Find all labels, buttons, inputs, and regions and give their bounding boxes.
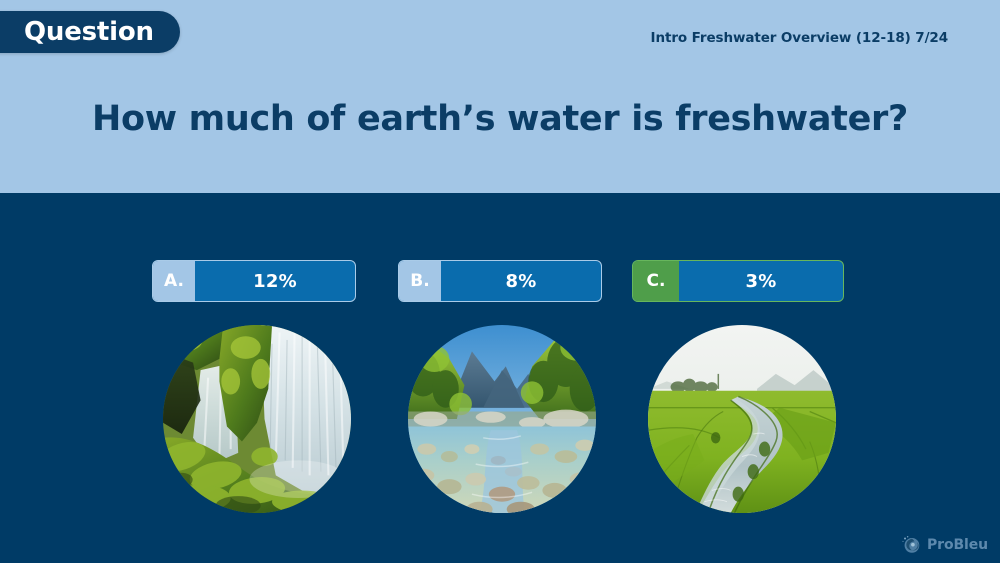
question-slide: Question Intro Freshwater Overview (12-1… xyxy=(0,0,1000,563)
mossy-waterfall-photo xyxy=(163,325,351,513)
answer-option-b[interactable]: B. 8% xyxy=(398,260,602,302)
brand-logo: ProBleu xyxy=(901,534,988,555)
answer-options-row: A. 12% B. 8% C. 3% xyxy=(0,260,1000,304)
question-badge-label: Question xyxy=(24,19,154,45)
brand-name: ProBleu xyxy=(927,537,988,553)
question-badge: Question xyxy=(0,11,180,53)
water-swirl-globe-icon xyxy=(901,534,922,555)
answer-option-c-value: 3% xyxy=(679,261,843,301)
answer-option-a[interactable]: A. 12% xyxy=(152,260,356,302)
header-band: Question Intro Freshwater Overview (12-1… xyxy=(0,0,1000,193)
answer-option-a-letter: A. xyxy=(153,261,195,301)
answer-option-c-letter: C. xyxy=(633,261,679,301)
clear-mountain-river-photo xyxy=(408,325,596,513)
answer-option-a-value: 12% xyxy=(195,261,355,301)
answer-option-b-value: 8% xyxy=(441,261,601,301)
deck-progress-label: Intro Freshwater Overview (12-18) 7/24 xyxy=(651,30,948,46)
answer-images-row xyxy=(0,325,1000,515)
answer-option-c[interactable]: C. 3% xyxy=(632,260,844,302)
answer-option-b-letter: B. xyxy=(399,261,441,301)
winding-river-green-fields-photo xyxy=(648,325,836,513)
question-title: How much of earth’s water is freshwater? xyxy=(0,100,1000,139)
